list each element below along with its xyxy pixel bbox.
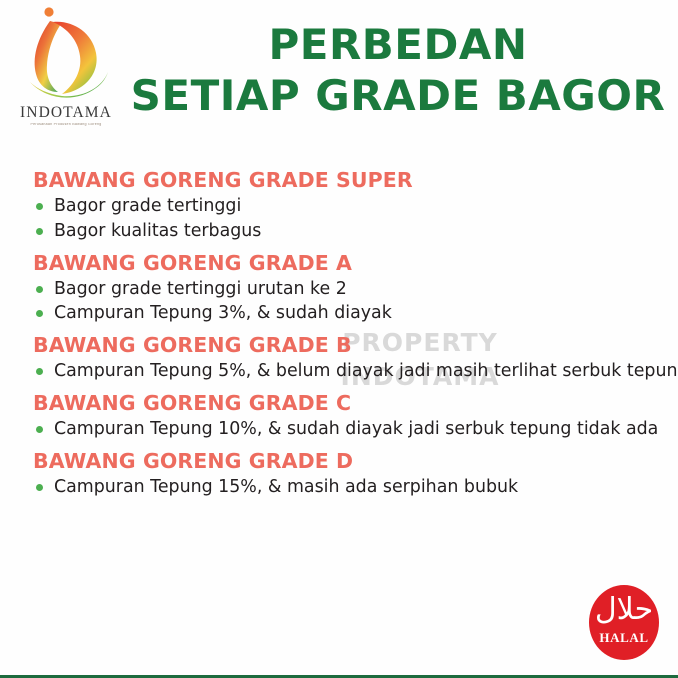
grade-bullets: Campuran Tepung 15%, & masih ada serpiha… [33,475,663,500]
logo-dot [44,7,53,16]
page-title: PERBEDAN SETIAP GRADE BAGOR [130,24,666,118]
grade-heading: BAWANG GORENG GRADE C [33,391,663,415]
bullet-text: Bagor grade tertinggi urutan ke 2 [54,279,347,299]
bullet-dot-icon [36,426,43,433]
halal-badge-icon: حلال HALAL [589,585,659,660]
grade-heading: BAWANG GORENG GRADE SUPER [33,168,663,192]
bullet-dot-icon [36,203,43,210]
grade-bullets: Campuran Tepung 5%, & belum diayak jadi … [33,359,663,384]
list-item: Campuran Tepung 3%, & sudah diayak [33,301,663,326]
list-item: Bagor grade tertinggi urutan ke 2 [33,277,663,302]
halal-arabic-text: حلال [589,591,659,629]
bullet-dot-icon [36,368,43,375]
grade-heading: BAWANG GORENG GRADE A [33,251,663,275]
bullet-dot-icon [36,484,43,491]
list-item: Campuran Tepung 15%, & masih ada serpiha… [33,475,663,500]
brand-logo: INDOTAMA Perusahaan Produsen Bawang Gore… [12,6,120,138]
bullet-dot-icon [36,286,43,293]
bullet-text: Campuran Tepung 3%, & sudah diayak [54,303,392,323]
poster-canvas: PROPERTY INDOTAMA [0,0,678,678]
title-line-1: PERBEDAN [130,24,666,67]
grade-list: BAWANG GORENG GRADE SUPER Bagor grade te… [33,168,663,500]
list-item: Bagor kualitas terbagus [33,219,663,244]
bullet-text: Campuran Tepung 15%, & masih ada serpiha… [54,477,518,497]
indotama-flame-logo-icon [20,6,112,106]
brand-name: INDOTAMA [12,105,120,121]
grade-section: BAWANG GORENG GRADE B Campuran Tepung 5%… [33,333,663,384]
title-line-2: SETIAP GRADE BAGOR [130,75,666,118]
bullet-text: Bagor kualitas terbagus [54,221,261,241]
bullet-text: Bagor grade tertinggi [54,196,241,216]
grade-section: BAWANG GORENG GRADE D Campuran Tepung 15… [33,449,663,500]
list-item: Campuran Tepung 10%, & sudah diayak jadi… [33,417,663,442]
bullet-dot-icon [36,310,43,317]
grade-bullets: Bagor grade tertinggi Bagor kualitas ter… [33,194,663,243]
list-item: Campuran Tepung 5%, & belum diayak jadi … [33,359,663,384]
grade-section: BAWANG GORENG GRADE C Campuran Tepung 10… [33,391,663,442]
grade-bullets: Campuran Tepung 10%, & sudah diayak jadi… [33,417,663,442]
grade-heading: BAWANG GORENG GRADE B [33,333,663,357]
grade-section: BAWANG GORENG GRADE SUPER Bagor grade te… [33,168,663,244]
list-item: Bagor grade tertinggi [33,194,663,219]
halal-latin-text: HALAL [589,631,659,644]
grade-bullets: Bagor grade tertinggi urutan ke 2 Campur… [33,277,663,326]
grade-section: BAWANG GORENG GRADE A Bagor grade tertin… [33,251,663,327]
poster-header: INDOTAMA Perusahaan Produsen Bawang Gore… [0,0,678,152]
bullet-text: Campuran Tepung 5%, & belum diayak jadi … [54,361,678,381]
bullet-text: Campuran Tepung 10%, & sudah diayak jadi… [54,419,658,439]
bullet-dot-icon [36,228,43,235]
grade-heading: BAWANG GORENG GRADE D [33,449,663,473]
brand-tagline: Perusahaan Produsen Bawang Goreng [12,123,120,127]
